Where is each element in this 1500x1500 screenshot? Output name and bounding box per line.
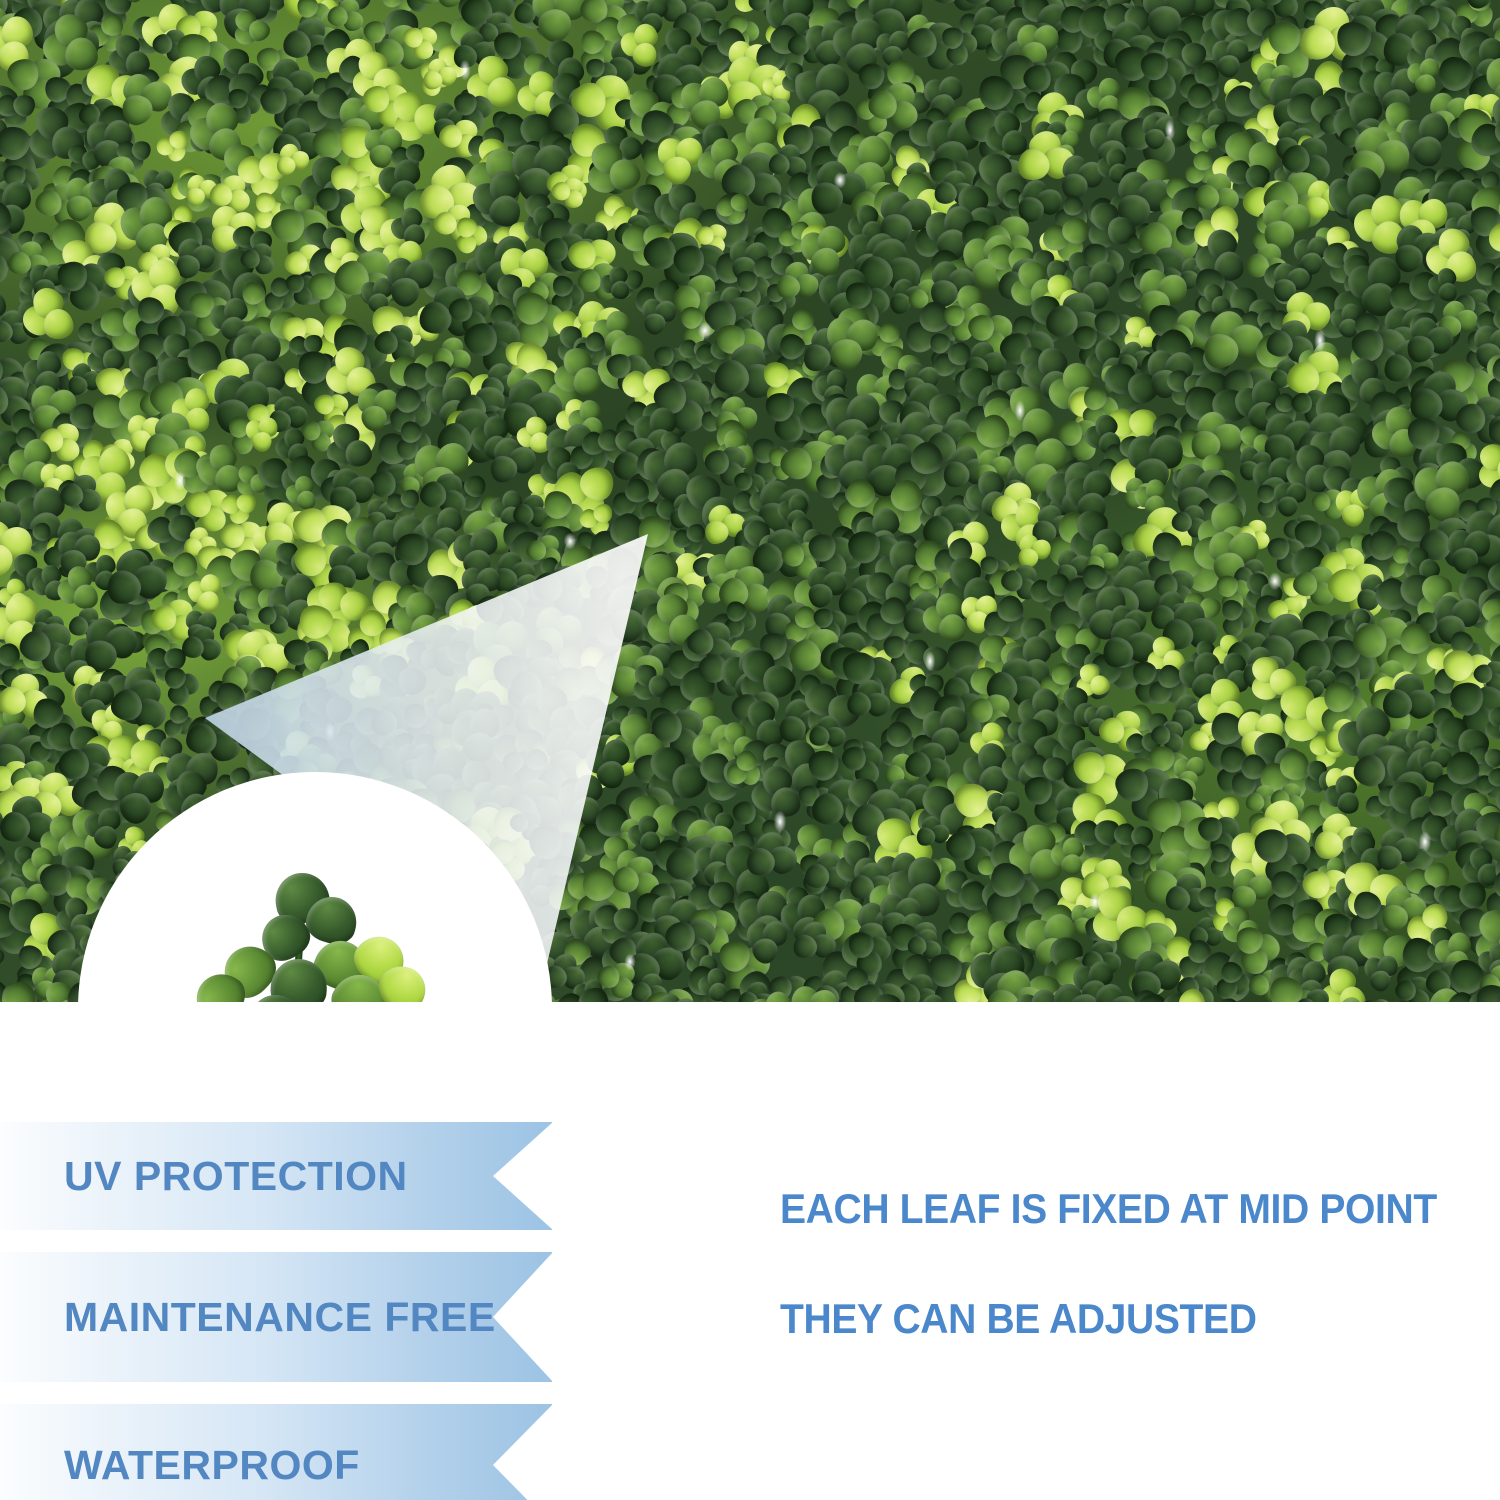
feature-banner-label: WATERPROOF (0, 1442, 360, 1489)
feature-banner-label: MAINTENANCE FREE (0, 1294, 496, 1341)
headline-leaf-fixed-mid-point: EACH LEAF IS FIXED AT MID POINT (780, 1185, 1431, 1233)
headline-group: EACH LEAF IS FIXED AT MID POINT THEY CAN… (780, 1185, 1480, 1343)
headline-leaf-adjustable: THEY CAN BE ADJUSTED (780, 1295, 1431, 1343)
product-photo (0, 0, 1500, 1002)
product-feature-graphic: UV PROTECTION MAINTENANCE FREE WATERPROO… (0, 0, 1500, 1500)
feature-banner-waterproof[interactable]: WATERPROOF (0, 1404, 552, 1500)
leaf-sprig-illustration (165, 863, 465, 1002)
feature-banner-maintenance-free[interactable]: MAINTENANCE FREE (0, 1252, 552, 1382)
feature-banner-list: UV PROTECTION MAINTENANCE FREE WATERPROO… (0, 1122, 620, 1500)
feature-banner-label: UV PROTECTION (0, 1153, 408, 1200)
feature-banner-uv-protection[interactable]: UV PROTECTION (0, 1122, 552, 1230)
